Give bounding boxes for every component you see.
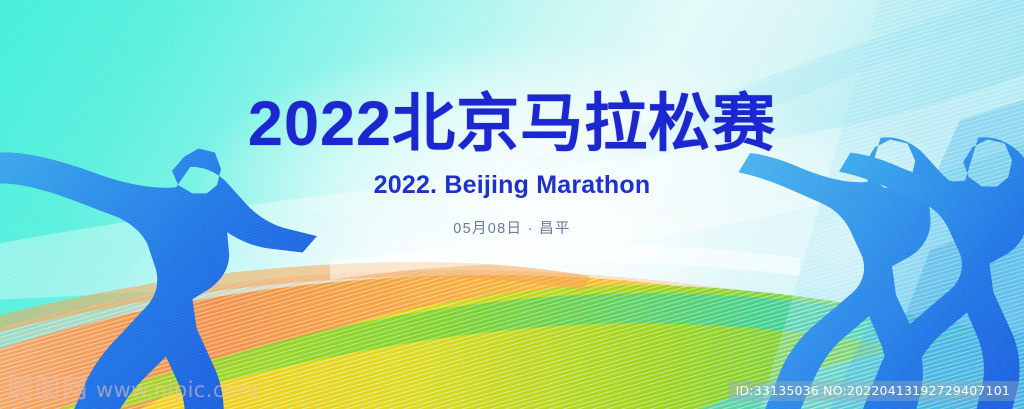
nipic-watermark: 昵图网 www.nipic.com xyxy=(8,369,259,405)
nipic-brand-url: www.nipic.com xyxy=(96,378,259,402)
page-subtitle: 2022. Beijing Marathon xyxy=(0,171,1024,200)
event-date-location: 05月08日 · 昌平 xyxy=(0,217,1024,238)
marathon-poster: 2022北京马拉松赛 2022. Beijing Marathon 05月08日… xyxy=(0,0,1024,409)
asset-id-label: ID:33135036 NO:20220413192729407101 xyxy=(728,381,1018,401)
page-title: 2022北京马拉松赛 xyxy=(0,92,1024,156)
nipic-brand-cn: 昵图网 xyxy=(8,369,89,405)
headline-block: 2022北京马拉松赛 2022. Beijing Marathon 05月08日… xyxy=(0,92,1024,238)
